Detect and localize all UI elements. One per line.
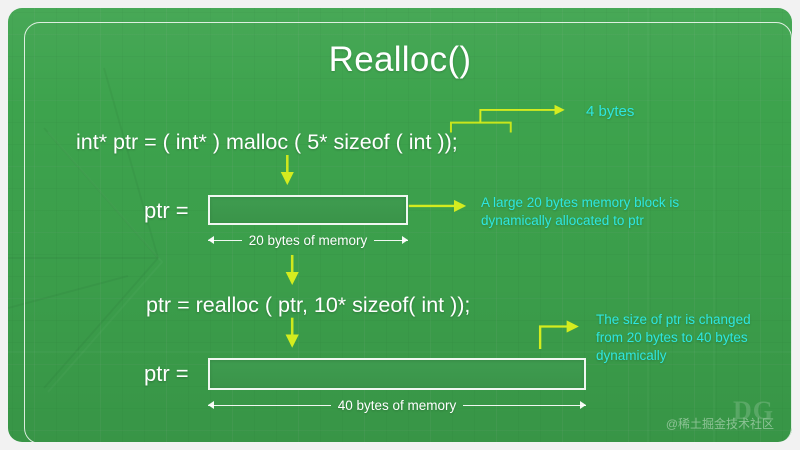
annotation-four-bytes: 4 bytes xyxy=(586,102,634,122)
memory-block-40-bytes xyxy=(208,358,586,390)
watermark: DG @稀土掘金技术社区 xyxy=(666,399,774,432)
elbow-arrow-right-icon xyxy=(540,327,576,350)
watermark-logo: DG xyxy=(666,399,774,424)
memory-block-20-bytes xyxy=(208,195,408,225)
measure-label: 20 bytes of memory xyxy=(249,233,368,248)
annotation-resized: The size of ptr is changed from 20 bytes… xyxy=(596,311,751,364)
code-line-realloc: ptr = realloc ( ptr, 10* sizeof( int )); xyxy=(146,293,470,318)
brace-bracket-icon xyxy=(451,110,563,133)
slide-content: Realloc() xyxy=(8,8,792,442)
measure-20-bytes: 20 bytes of memory xyxy=(208,233,408,248)
measure-arrow-left-icon xyxy=(208,405,331,406)
screenshot-root: Realloc() xyxy=(0,0,800,450)
annotation-allocated: A large 20 bytes memory block is dynamic… xyxy=(481,194,679,230)
ptr-label-second: ptr = xyxy=(144,361,189,387)
measure-40-bytes: 40 bytes of memory xyxy=(208,398,586,413)
ptr-label-first: ptr = xyxy=(144,198,189,224)
watermark-handle: @稀土掘金技术社区 xyxy=(666,415,774,432)
measure-arrow-right-icon xyxy=(374,240,408,241)
measure-arrow-right-icon xyxy=(463,405,586,406)
measure-label: 40 bytes of memory xyxy=(338,398,457,413)
page-title: Realloc() xyxy=(8,40,792,80)
code-line-malloc: int* ptr = ( int* ) malloc ( 5* sizeof (… xyxy=(76,130,458,155)
measure-arrow-left-icon xyxy=(208,240,242,241)
slide-canvas: Realloc() xyxy=(8,8,792,442)
